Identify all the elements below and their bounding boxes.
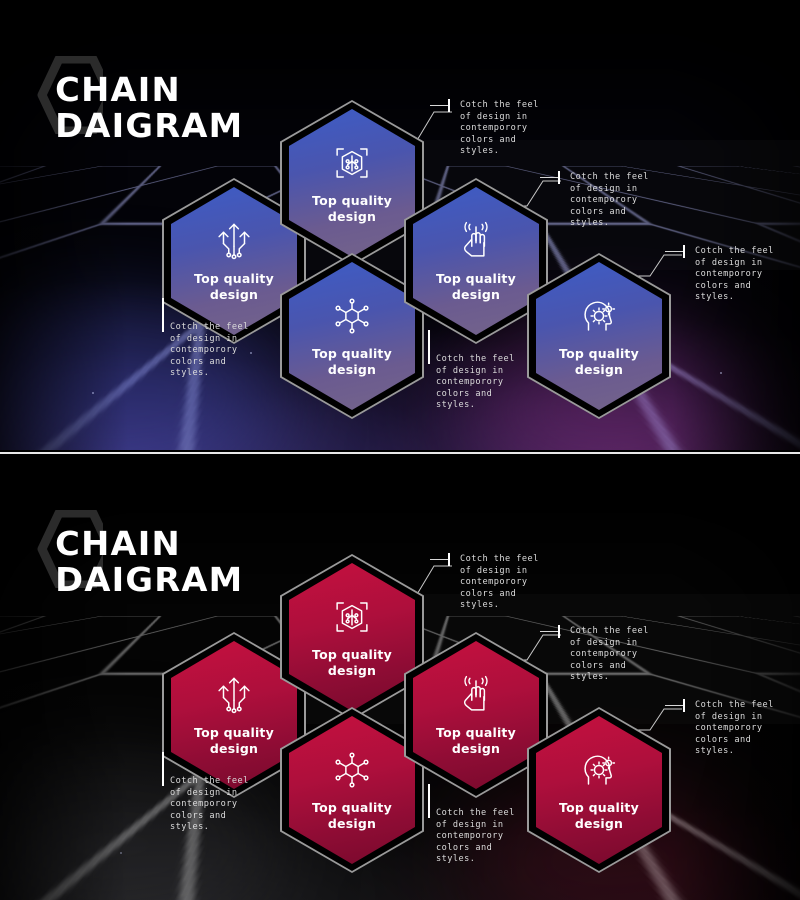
hex-card-label: Top quality design bbox=[289, 346, 415, 378]
leader-riser-icon bbox=[428, 784, 430, 818]
leader-tick-icon bbox=[430, 100, 454, 111]
leader-tick-icon bbox=[665, 700, 689, 711]
hex-card-5[interactable]: Top quality design bbox=[527, 253, 671, 419]
annotation-3: Cotch the feel of design in contemporory… bbox=[665, 700, 774, 758]
hex-network-icon bbox=[331, 749, 373, 791]
hex-card-label: Top quality design bbox=[289, 193, 415, 225]
page-title-line2: DAIGRAM bbox=[55, 562, 243, 598]
annotation-text: Cotch the feel of design in contemporory… bbox=[436, 808, 515, 866]
hex-card-label: Top quality design bbox=[536, 346, 662, 378]
hex-chip-scan-icon bbox=[331, 142, 373, 184]
diagram-panel-blue: CHAIN DAIGRAM Top quality design bbox=[0, 0, 800, 450]
hex-card-label: Top quality design bbox=[171, 271, 297, 303]
hand-touch-wifi-icon bbox=[455, 220, 497, 262]
annotation-2: Cotch the feel of design in contemporory… bbox=[540, 172, 649, 230]
title-block: CHAIN DAIGRAM bbox=[57, 526, 242, 598]
hex-card-label: Top quality design bbox=[413, 271, 539, 303]
annotation-text: Cotch the feel of design in contemporory… bbox=[695, 700, 774, 758]
hex-card-label: Top quality design bbox=[413, 725, 539, 757]
leader-tick-icon bbox=[430, 554, 454, 565]
hex-card-3[interactable]: Top quality design bbox=[280, 707, 424, 873]
annotation-text: Cotch the feel of design in contemporory… bbox=[570, 626, 649, 684]
particle bbox=[250, 352, 252, 354]
hex-card-5[interactable]: Top quality design bbox=[527, 707, 671, 873]
hand-touch-wifi-icon bbox=[455, 674, 497, 716]
page-title-line2: DAIGRAM bbox=[55, 108, 243, 144]
annotation-4: Cotch the feel of design in contemporory… bbox=[162, 776, 249, 834]
hex-card-label: Top quality design bbox=[171, 725, 297, 757]
title-block: CHAIN DAIGRAM bbox=[57, 72, 242, 144]
annotation-4: Cotch the feel of design in contemporory… bbox=[162, 322, 249, 380]
annotation-text: Cotch the feel of design in contemporory… bbox=[695, 246, 774, 304]
hex-card-3[interactable]: Top quality design bbox=[280, 253, 424, 419]
diagram-panel-red: CHAIN DAIGRAM Top quality design bbox=[0, 452, 800, 900]
leader-tick-icon bbox=[665, 246, 689, 257]
leader-riser-icon bbox=[162, 752, 164, 786]
hex-card-label: Top quality design bbox=[289, 800, 415, 832]
leader-tick-icon bbox=[540, 626, 564, 637]
annotation-text: Cotch the feel of design in contemporory… bbox=[460, 100, 539, 158]
particle bbox=[92, 392, 94, 394]
annotation-1: Cotch the feel of design in contemporory… bbox=[430, 100, 539, 158]
annotation-text: Cotch the feel of design in contemporory… bbox=[170, 776, 249, 834]
leader-riser-icon bbox=[162, 298, 164, 332]
head-gears-icon bbox=[578, 295, 620, 337]
annotation-5: Cotch the feel of design in contemporory… bbox=[428, 808, 515, 866]
page-title-line1: CHAIN bbox=[55, 72, 243, 108]
hex-card-label: Top quality design bbox=[536, 800, 662, 832]
annotation-5: Cotch the feel of design in contemporory… bbox=[428, 354, 515, 412]
annotation-text: Cotch the feel of design in contemporory… bbox=[170, 322, 249, 380]
annotation-text: Cotch the feel of design in contemporory… bbox=[436, 354, 515, 412]
annotation-1: Cotch the feel of design in contemporory… bbox=[430, 554, 539, 612]
head-gears-icon bbox=[578, 749, 620, 791]
annotation-2: Cotch the feel of design in contemporory… bbox=[540, 626, 649, 684]
annotation-text: Cotch the feel of design in contemporory… bbox=[460, 554, 539, 612]
particle bbox=[120, 852, 122, 854]
page-title-line1: CHAIN bbox=[55, 526, 243, 562]
particle bbox=[720, 372, 722, 374]
arrows-circuit-icon bbox=[213, 674, 255, 716]
arrows-circuit-icon bbox=[213, 220, 255, 262]
leader-tick-icon bbox=[540, 172, 564, 183]
hex-network-icon bbox=[331, 295, 373, 337]
hex-card-2[interactable]: Top quality design bbox=[280, 100, 424, 266]
leader-riser-icon bbox=[428, 330, 430, 364]
annotation-text: Cotch the feel of design in contemporory… bbox=[570, 172, 649, 230]
hex-card-label: Top quality design bbox=[289, 647, 415, 679]
hex-card-2[interactable]: Top quality design bbox=[280, 554, 424, 720]
annotation-3: Cotch the feel of design in contemporory… bbox=[665, 246, 774, 304]
hex-chip-scan-icon bbox=[331, 596, 373, 638]
